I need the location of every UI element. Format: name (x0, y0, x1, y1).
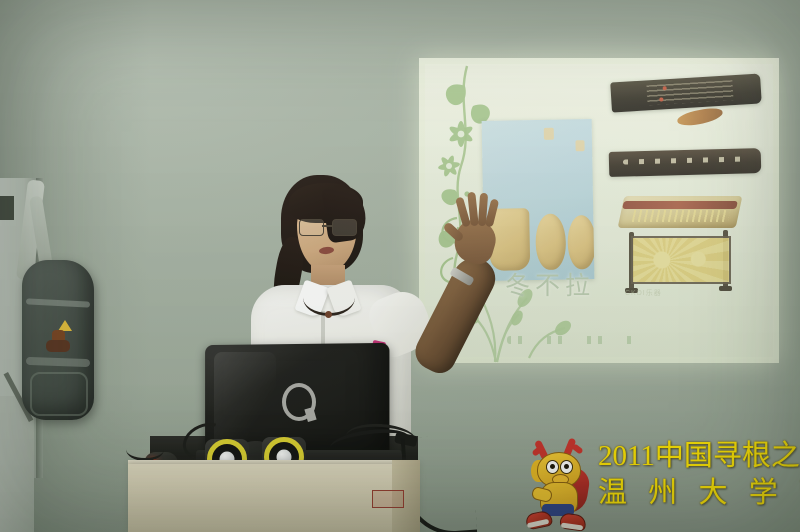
dombra-photo (482, 119, 595, 281)
yangqin-caption: CKDI乐器 (625, 288, 685, 299)
dombra-headstock (575, 140, 584, 151)
cable-left (126, 438, 164, 461)
dombra-body (535, 214, 566, 271)
photo-scene: CKDI乐器 冬不拉 (0, 0, 800, 532)
backpack-charm-body (46, 340, 70, 352)
yangqin-carved-panel (631, 236, 731, 284)
yangqin-foot (719, 286, 732, 291)
zither-inscription (646, 80, 733, 105)
watermark: 2011中国寻根之旅 温 州 大 学 营 (516, 434, 794, 530)
yangqin-strings (632, 210, 731, 222)
glasses-bridge (322, 225, 332, 227)
door-gap (0, 196, 14, 220)
watermark-text: 2011中国寻根之旅 温 州 大 学 营 (598, 438, 794, 512)
slide-decorative-dots (507, 336, 637, 344)
reed-flute-photo (609, 148, 762, 177)
glasses-icon (299, 219, 357, 235)
glasses-lens-right (332, 219, 357, 236)
flute-finger-holes (623, 156, 747, 164)
mascot-pupil-right (564, 464, 569, 469)
mascot-pupil-left (550, 464, 555, 469)
yangqin-rail (622, 201, 738, 209)
dombra-small (567, 215, 594, 269)
dombra-middle (535, 214, 566, 271)
necklace-pendant (325, 311, 332, 318)
podium-label (372, 490, 404, 508)
yangqin-photo: CKDI乐器 (621, 196, 739, 298)
watermark-line-2: 温 州 大 学 营 (598, 474, 794, 512)
watermark-line-1: 2011中国寻根之旅 (598, 438, 794, 474)
compaq-logo-icon (282, 383, 316, 421)
slide-caption: 冬不拉 (505, 266, 595, 302)
dombra-headstock (544, 128, 554, 140)
mascot-horn-branch-right (571, 443, 583, 455)
dragon-mascot-icon (522, 438, 600, 530)
glasses-lens-left (299, 219, 324, 236)
backpack-pocket (30, 372, 88, 416)
dombra-body (567, 215, 594, 269)
